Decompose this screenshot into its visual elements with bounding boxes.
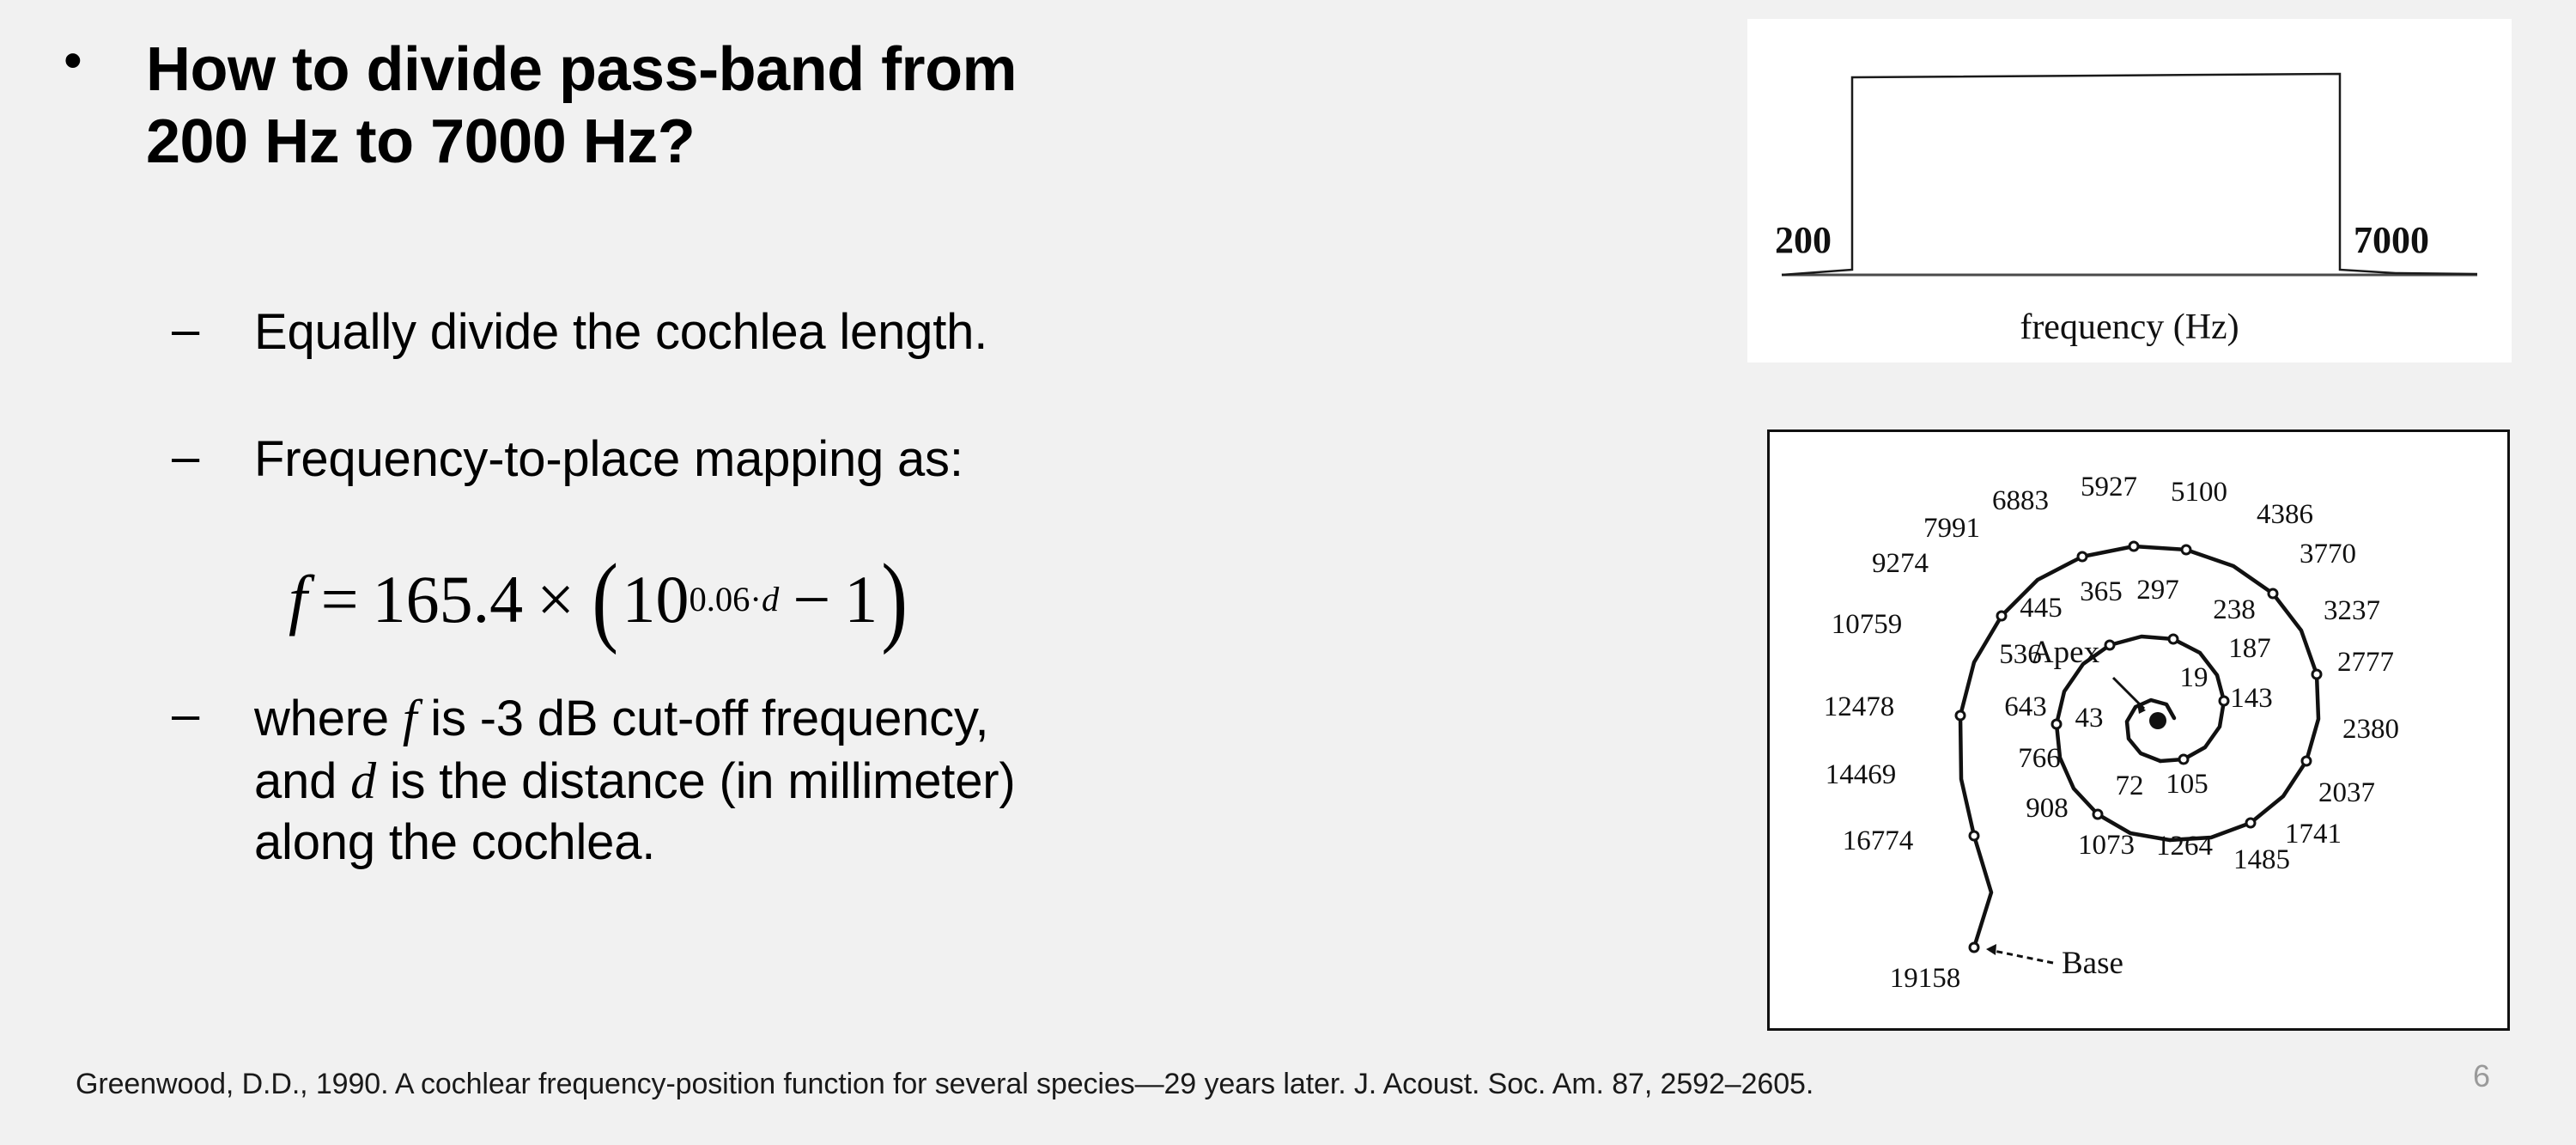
cochlea-label-7991: 7991: [1923, 513, 1980, 544]
cochlea-label-445: 445: [2020, 593, 2063, 624]
dash-marker-icon: –: [172, 302, 254, 357]
apex-pointer-line: [2113, 678, 2144, 709]
cochlea-label-105: 105: [2166, 769, 2208, 800]
cochlea-label-2380: 2380: [2342, 714, 2399, 745]
cochlea-label-10759: 10759: [1832, 609, 1903, 640]
bullet-level2-equally: – Equally divide the cochlea length.: [172, 302, 1649, 363]
where-seg2: is -3 dB cut-off frequency,: [416, 691, 988, 746]
cochlea-inner-turn: [2127, 700, 2174, 761]
cochlea-label-72: 72: [2116, 770, 2144, 801]
bullet-level2-where: – where f is -3 dB cut-off frequency, an…: [172, 687, 1649, 874]
passband-xaxis-label: frequency (Hz): [2020, 308, 2239, 347]
cochlea-label-143: 143: [2230, 683, 2273, 714]
cochlea-label-1073: 1073: [2078, 830, 2135, 861]
cochlea-base-label: Base: [2062, 946, 2123, 981]
where-seg5: along the cochlea.: [254, 814, 655, 870]
cochlea-label-6883: 6883: [1992, 485, 2049, 516]
cochlea-label-3770: 3770: [2300, 539, 2356, 569]
bullet-level1-line2: 200 Hz to 7000 Hz?: [146, 107, 695, 176]
cochlea-figure: 5927 6883 5100 7991 4386 9274 3770 3237 …: [1767, 429, 2510, 1031]
formula-times: ×: [537, 566, 574, 633]
bullet-level1-line1: How to divide pass-band from: [146, 35, 1017, 104]
cochlea-label-2777: 2777: [2337, 647, 2394, 678]
formula-equals: =: [321, 566, 359, 633]
passband-svg: 200 7000 frequency (Hz): [1747, 19, 2512, 362]
cochlea-label-3237: 3237: [2324, 595, 2380, 626]
where-var-f: f: [403, 690, 416, 746]
greenwood-formula: f = 165.4 × ( 100.06·d − 1 ): [289, 558, 912, 642]
passband-figure: 200 7000 frequency (Hz): [1747, 19, 2512, 362]
where-seg3: and: [254, 753, 350, 809]
page-number: 6: [2473, 1058, 2490, 1094]
cochlea-label-1264: 1264: [2156, 831, 2213, 862]
cochlea-label-9274: 9274: [1872, 548, 1929, 579]
formula-lhs: f: [289, 566, 307, 633]
cochlea-label-297: 297: [2136, 575, 2179, 606]
cochlea-middle-labels: 365 297 445 238 536 187 643 143 766 1073…: [1999, 575, 2273, 862]
slide-content: • How to divide pass-band from 200 Hz to…: [0, 0, 1700, 1031]
base-pointer-line: [1990, 950, 2053, 963]
formula-open-paren: (: [592, 558, 618, 642]
passband-low-cutoff-label: 200: [1775, 219, 1832, 261]
base-arrow-head-icon: [1986, 944, 1996, 955]
cochlea-label-1741: 1741: [2285, 819, 2342, 850]
bullet-marker-icon: •: [52, 34, 146, 88]
cochlea-label-12478: 12478: [1824, 691, 1895, 722]
slide-canvas: • How to divide pass-band from 200 Hz to…: [0, 0, 2576, 1145]
formula-exponent-variable: d: [762, 580, 779, 618]
cochlea-label-2037: 2037: [2318, 777, 2375, 808]
where-seg1: where: [254, 691, 403, 746]
passband-high-cutoff-label: 7000: [2354, 219, 2429, 261]
cochlea-apex-label: Apex: [2031, 635, 2100, 670]
where-seg4: is the distance (in millimeter): [376, 753, 1016, 809]
cochlea-label-19: 19: [2180, 662, 2208, 693]
cochlea-apex-marker: [2149, 712, 2166, 729]
formula-minus: −: [793, 566, 830, 633]
cochlea-label-4386: 4386: [2257, 499, 2313, 530]
bullet-level1: • How to divide pass-band from 200 Hz to…: [52, 34, 1460, 178]
cochlea-outer-turn: [1960, 546, 2318, 947]
formula-base: 10: [622, 566, 689, 633]
dash-marker-icon: –: [172, 687, 254, 742]
citation-text: Greenwood, D.D., 1990. A cochlear freque…: [76, 1068, 1814, 1101]
cochlea-label-187: 187: [2228, 633, 2271, 664]
cochlea-label-5927: 5927: [2081, 472, 2137, 502]
bullet-level2-where-body: where f is -3 dB cut-off frequency, and …: [254, 687, 1016, 874]
cochlea-label-643: 643: [2004, 691, 2047, 722]
cochlea-svg: 5927 6883 5100 7991 4386 9274 3770 3237 …: [1770, 432, 2507, 1028]
cochlea-inner-labels: 19 43 72 105: [2075, 662, 2208, 801]
formula-one: 1: [844, 566, 878, 633]
cochlea-label-43: 43: [2075, 703, 2104, 734]
bullet-level2-mapping: – Frequency-to-place mapping as:: [172, 429, 1649, 490]
cochlea-label-14469: 14469: [1826, 759, 1897, 790]
dash-marker-icon: –: [172, 429, 254, 484]
bullet-level1-body: How to divide pass-band from 200 Hz to 7…: [146, 34, 1017, 178]
cochlea-label-5100: 5100: [2171, 477, 2227, 508]
cochlea-label-238: 238: [2213, 594, 2256, 625]
bullet-level2-equally-text: Equally divide the cochlea length.: [254, 302, 987, 363]
cochlea-label-19158: 19158: [1890, 963, 1961, 994]
where-var-d: d: [350, 752, 376, 809]
formula-exponent-number: 0.06·: [689, 580, 761, 618]
bullet-level2-mapping-text: Frequency-to-place mapping as:: [254, 429, 963, 490]
cochlea-label-1485: 1485: [2233, 844, 2290, 875]
formula-coefficient: 165.4: [373, 566, 524, 633]
cochlea-label-908: 908: [2026, 793, 2069, 824]
formula-close-paren: ): [882, 558, 908, 642]
cochlea-label-16774: 16774: [1843, 825, 1914, 856]
cochlea-label-766: 766: [2018, 743, 2061, 774]
cochlea-label-365: 365: [2080, 576, 2123, 607]
